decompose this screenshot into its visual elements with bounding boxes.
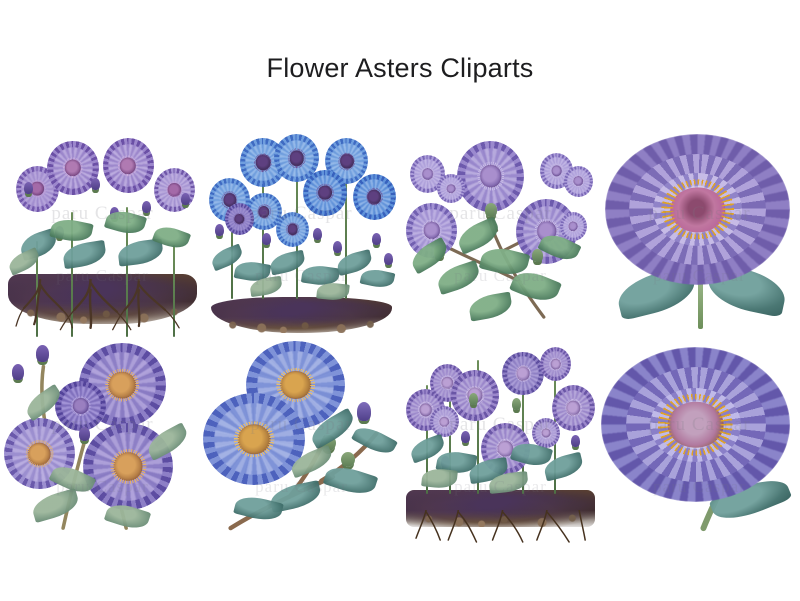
single-large-purple-aster-artwork: [601, 128, 798, 337]
clipart-item-1[interactable]: paru Caspar paru Caspar: [4, 128, 201, 337]
flower-bud: [12, 364, 24, 380]
aster-bloom: [564, 166, 594, 197]
purple-asters-garden-row-artwork: [402, 339, 599, 548]
flower-bud: [181, 193, 190, 205]
leaf: [268, 250, 307, 276]
clipart-item-7[interactable]: paru Caspar paru Caspar: [402, 339, 599, 548]
flower-bud: [36, 345, 49, 362]
clipart-item-6[interactable]: paru Caspar paru Caspar: [203, 339, 400, 548]
flower-bud: [512, 398, 521, 410]
clipart-grid: paru Caspar paru Caspar: [4, 128, 798, 548]
aster-bloom: [560, 212, 588, 241]
clipart-item-2[interactable]: paru Caspar paru Caspar: [203, 128, 400, 337]
flower-bud: [469, 393, 478, 405]
aster-bloom: [353, 174, 396, 220]
leaf: [62, 240, 108, 269]
flower-bud: [485, 203, 497, 217]
flower-bud: [262, 233, 271, 245]
soil-layer: [211, 297, 392, 333]
aster-bloom: [457, 141, 524, 212]
aster-bloom: [552, 385, 595, 431]
aster-bloom: [225, 203, 255, 234]
aster-bloom: [532, 418, 560, 447]
aster-bloom: [502, 352, 543, 396]
flower-bud: [215, 224, 224, 236]
page-title: Flower Asters Cliparts: [0, 52, 800, 84]
clipart-item-8[interactable]: paru Caspar paru Caspar: [601, 339, 798, 548]
clipart-item-3[interactable]: paru Caspar paru Caspar: [402, 128, 599, 337]
aster-bloom: [437, 174, 465, 203]
aster-bloom-large: [601, 347, 790, 502]
flower-bud: [333, 241, 342, 253]
aster-bloom: [540, 347, 572, 380]
flower-bud: [313, 228, 322, 240]
aster-bloom: [55, 381, 106, 431]
single-blue-violet-aster-artwork: [601, 339, 798, 548]
aster-bloom: [276, 212, 309, 248]
violet-aster-bouquet-artwork: [4, 339, 201, 548]
flower-bud: [341, 452, 355, 467]
clipart-preview-sheet: Flower Asters Cliparts: [0, 0, 800, 601]
aster-bloom: [303, 170, 346, 216]
flower-bud: [532, 249, 543, 262]
flower-bud: [142, 201, 151, 213]
clipart-item-5[interactable]: paru Caspar paru Caspar: [4, 339, 201, 548]
blue-asters-garden-bed-artwork: [203, 128, 400, 337]
aster-bloom: [154, 168, 195, 212]
flower-bud: [357, 402, 371, 421]
aster-bloom: [103, 138, 154, 192]
soil-layer: [406, 490, 595, 528]
flower-bud: [571, 435, 580, 447]
purple-asters-with-roots-artwork: [4, 128, 201, 337]
flower-bud: [372, 233, 381, 245]
leaf: [50, 216, 95, 245]
blue-aster-pair-branch-artwork: [203, 339, 400, 548]
aster-bloom-large: [605, 134, 790, 284]
clipart-item-4[interactable]: paru Caspar paru Caspar: [601, 128, 798, 337]
flower-bud: [384, 253, 393, 265]
flower-bud: [24, 182, 33, 194]
flower-bud: [79, 427, 90, 441]
flower-bud: [461, 431, 470, 443]
aster-bloom: [430, 406, 460, 437]
leaf: [359, 267, 395, 290]
flower-bud: [91, 178, 100, 190]
aster-bloom: [203, 393, 305, 485]
aster-branch-bouquet-artwork: [402, 128, 599, 337]
